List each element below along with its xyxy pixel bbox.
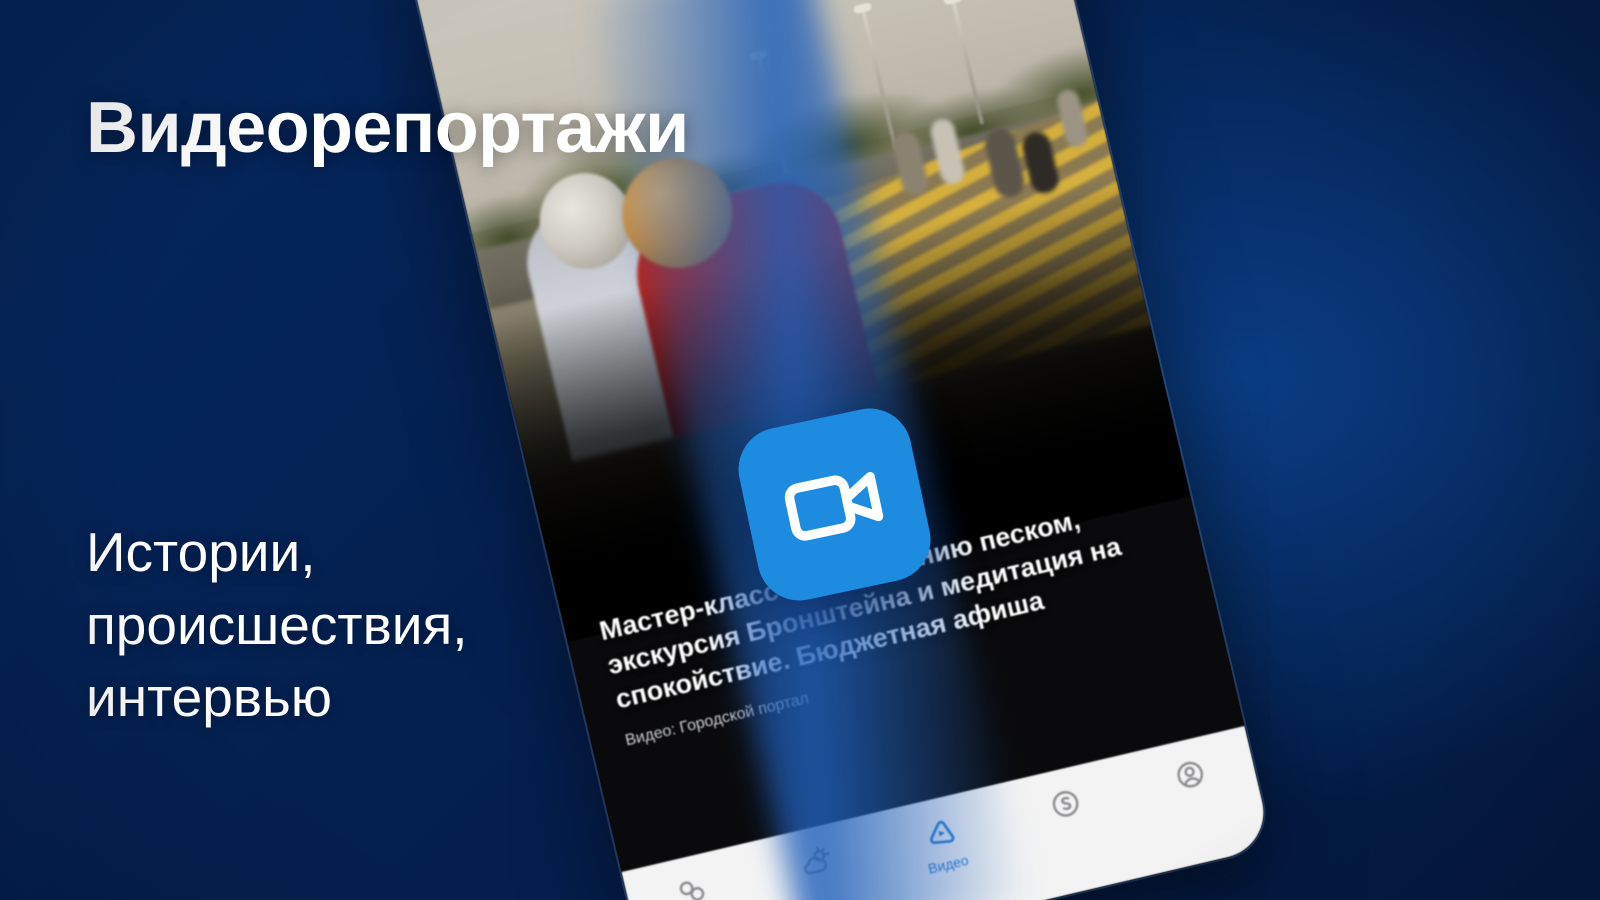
bottom-navigation: Новости Погода — [621, 726, 1272, 900]
nav-item-weather[interactable]: Погода — [750, 831, 888, 900]
services-icon — [1045, 783, 1086, 824]
page-title: Видеорепортажи — [86, 92, 689, 165]
nav-item-profile[interactable]: Профиль — [1124, 743, 1262, 828]
nav-item-video[interactable]: Видео — [875, 802, 1013, 887]
promo-banner: Мастер-класс по рисованию песком, экскур… — [0, 0, 1600, 900]
promo-subtitle: Истории, происшествия, интервью — [86, 516, 706, 734]
nav-item-services[interactable]: Сервисы — [999, 773, 1137, 858]
video-play-icon — [921, 813, 962, 854]
news-feed-icon — [671, 871, 712, 900]
video-camera-icon — [770, 440, 898, 568]
video-app-icon-badge[interactable] — [731, 401, 939, 609]
nav-item-news[interactable]: Новости — [626, 860, 764, 900]
nav-label-video: Видео — [927, 852, 970, 877]
weather-icon — [796, 842, 837, 883]
profile-icon — [1170, 754, 1211, 795]
